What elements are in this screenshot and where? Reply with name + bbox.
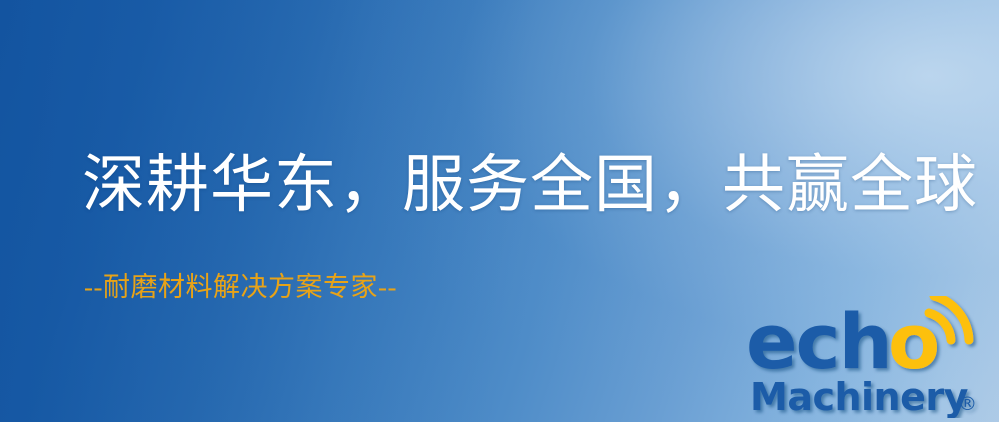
promo-banner: 深耕华东，服务全国，共赢全球 --耐磨材料解决方案专家-- ech o Mach… <box>0 0 999 422</box>
logo-registered-mark: ® <box>958 393 977 415</box>
banner-subtitle: --耐磨材料解决方案专家-- <box>84 265 397 304</box>
banner-headline: 深耕华东，服务全国，共赢全球 <box>82 148 978 222</box>
logo-wordmark-o-accent: o <box>888 297 940 386</box>
echo-machinery-logo: ech o Machinery ® <box>746 296 994 418</box>
logo-wordmark-ech: ech <box>746 297 891 386</box>
logo-tagline: Machinery <box>750 375 969 418</box>
